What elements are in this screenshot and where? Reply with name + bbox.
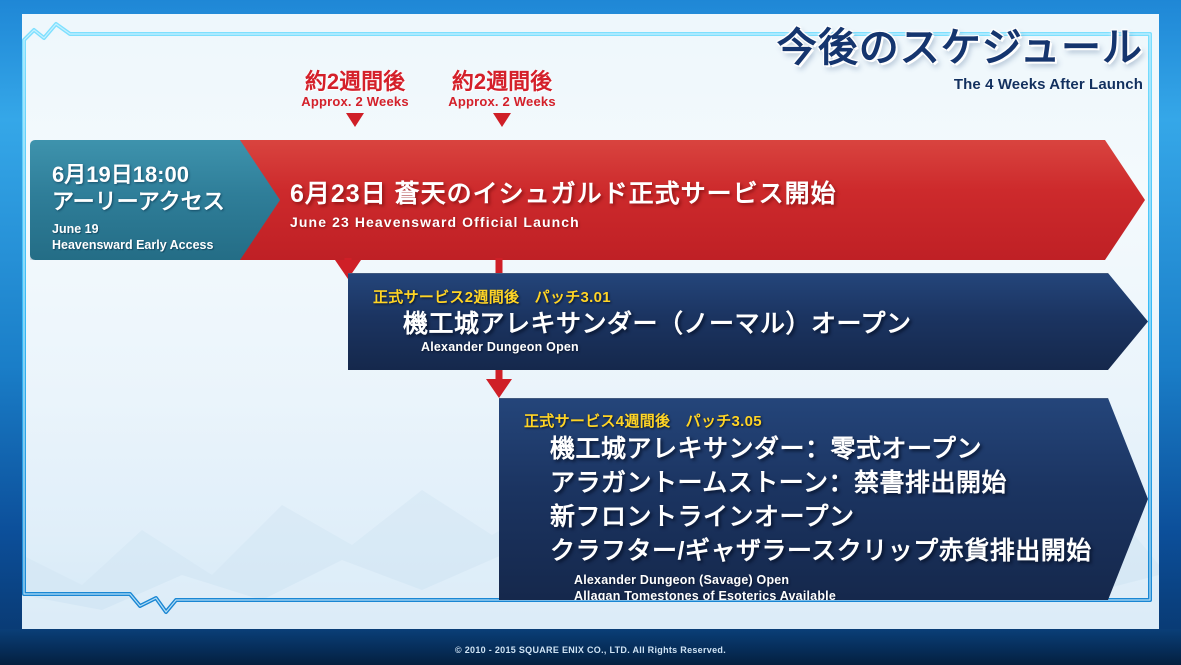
patch-block-301: 正式サービス2週間後 パッチ3.01 機工城アレキサンダー（ノーマル）オープン …	[348, 273, 1148, 370]
title-japanese: 今後のスケジュール	[777, 28, 1143, 68]
launch-title-jp: 6月23日 蒼天のイシュガルド正式サービス開始	[290, 174, 1145, 210]
marker-label-en: Approx. 2 Weeks	[280, 94, 430, 109]
patch-block-305: 正式サービス4週間後 パッチ3.05 機工城アレキサンダー：零式オープン アラガ…	[499, 398, 1148, 600]
early-access-label-en: Heavensward Early Access	[52, 237, 280, 253]
early-access-block: 6月19日18:00 アーリーアクセス June 19 Heavensward …	[30, 140, 280, 260]
title-english: The 4 Weeks After Launch	[777, 76, 1143, 93]
patch-line-jp: クラフター/ギャザラースクリップ赤貨排出開始	[550, 535, 1148, 567]
copyright-text: © 2010 - 2015 SQUARE ENIX CO., LTD. All …	[0, 645, 1181, 655]
launch-banner: 6月23日 蒼天のイシュガルド正式サービス開始 June 23 Heavensw…	[240, 140, 1145, 260]
patch-line-jp: 機工城アレキサンダー：零式オープン	[550, 433, 1148, 465]
patch-header: 正式サービス2週間後 パッチ3.01	[373, 286, 1148, 307]
down-triangle-icon	[493, 113, 511, 127]
early-access-date-en: June 19	[52, 221, 280, 237]
down-triangle-icon	[346, 113, 364, 127]
slide-canvas: © 2010 - 2015 SQUARE ENIX CO., LTD. All …	[0, 0, 1181, 665]
patch-line-en: Alexander Dungeon (Savage) Open	[574, 573, 1148, 589]
early-access-date-jp: 6月19日18:00	[52, 162, 280, 189]
patch-line-en: Alexander Dungeon Open	[421, 340, 1148, 356]
early-access-label-jp: アーリーアクセス	[52, 189, 280, 216]
patch-line-jp: 機工城アレキサンダー（ノーマル）オープン	[403, 308, 1148, 340]
marker-label-jp: 約2週間後	[280, 70, 430, 93]
marker-approx-1: 約2週間後 Approx. 2 Weeks	[280, 70, 430, 127]
patch-line-jp: 新フロントラインオープン	[550, 501, 1148, 533]
page-title: 今後のスケジュール The 4 Weeks After Launch	[777, 28, 1143, 93]
launch-title-en: June 23 Heavensward Official Launch	[290, 214, 1145, 230]
patch-line-jp: アラガントームストーン：禁書排出開始	[550, 467, 1148, 499]
patch-header: 正式サービス4週間後 パッチ3.05	[524, 410, 1148, 431]
marker-label-en: Approx. 2 Weeks	[427, 94, 577, 109]
marker-approx-2: 約2週間後 Approx. 2 Weeks	[427, 70, 577, 127]
marker-label-jp: 約2週間後	[427, 70, 577, 93]
